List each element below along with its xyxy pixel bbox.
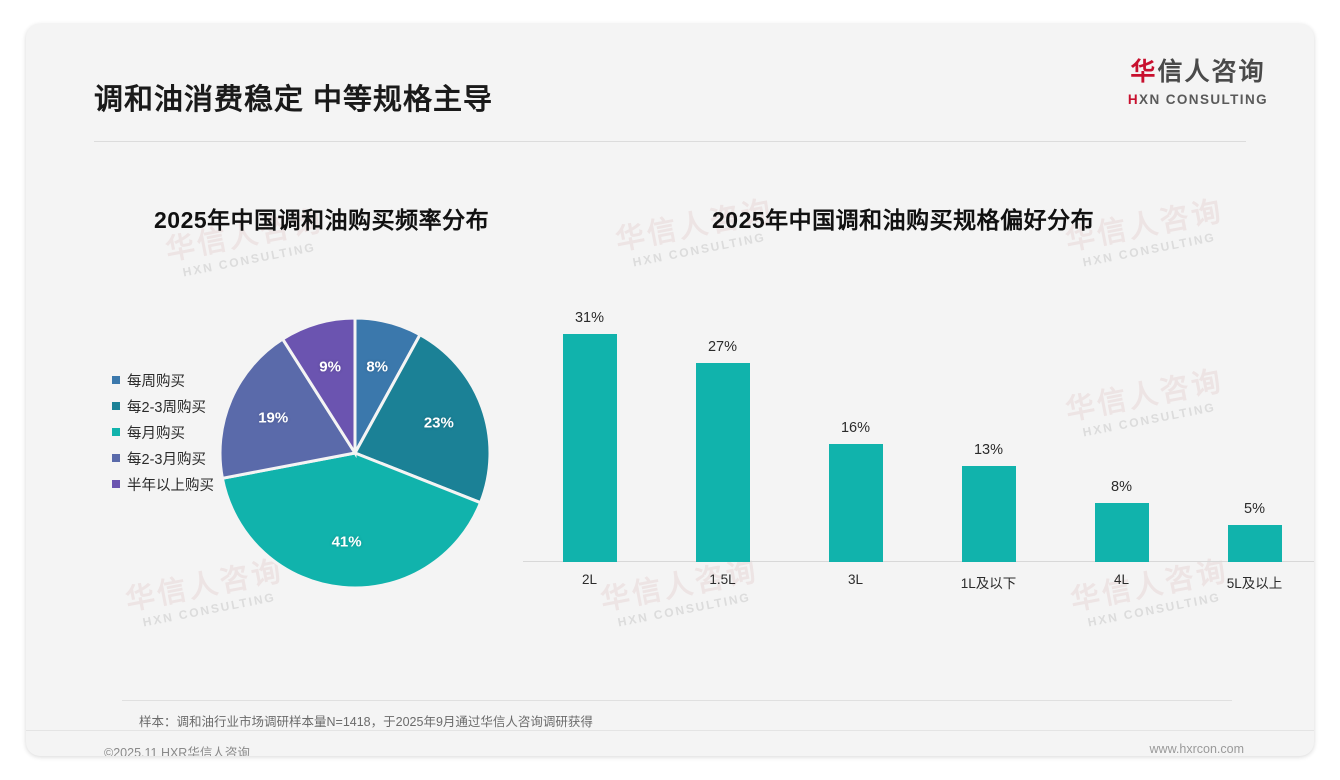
legend-color-swatch xyxy=(112,376,120,384)
bar-value-label: 8% xyxy=(1111,479,1132,495)
pie-slice-value-label: 23% xyxy=(424,414,454,431)
copyright-text: ©2025.11 HXR华信人咨询 xyxy=(104,742,250,756)
bar-category-label: 3L xyxy=(848,572,863,587)
pie-slice-value-label: 8% xyxy=(366,358,388,375)
bar-value-label: 16% xyxy=(841,420,870,436)
bar[interactable] xyxy=(563,334,617,562)
legend-item[interactable]: 每月购买 xyxy=(112,419,214,445)
bar-value-label: 31% xyxy=(575,310,604,326)
bar-chart: 31%2L27%1.5L16%3L13%1L及以下8%4L5%5L及以上 xyxy=(523,282,1314,592)
bar-column: 16%3L xyxy=(789,282,922,562)
bar-column: 13%1L及以下 xyxy=(922,282,1055,562)
watermark-en: HXN CONSULTING xyxy=(169,238,329,282)
bar-chart-title: 2025年中国调和油购买规格偏好分布 xyxy=(712,201,1094,235)
bar-category-label: 5L及以上 xyxy=(1227,572,1283,592)
legend-item[interactable]: 半年以上购买 xyxy=(112,471,214,497)
bar-column: 31%2L xyxy=(523,282,656,562)
legend-color-swatch xyxy=(112,428,120,436)
bar[interactable] xyxy=(696,363,750,562)
legend-item[interactable]: 每周购买 xyxy=(112,367,214,393)
legend-item-label: 每2-3月购买 xyxy=(127,448,206,469)
pie-slice-value-label: 9% xyxy=(319,359,341,376)
footer-divider xyxy=(26,730,1314,731)
bar-value-label: 27% xyxy=(708,339,737,355)
legend-item-label: 半年以上购买 xyxy=(127,474,214,495)
legend-item-label: 每月购买 xyxy=(127,422,185,443)
sample-divider xyxy=(122,700,1232,701)
pie-legend: 每周购买每2-3周购买每月购买每2-3月购买半年以上购买 xyxy=(112,367,214,497)
pie-chart-title: 2025年中国调和油购买频率分布 xyxy=(154,201,489,235)
page-title: 调和油消费稳定 中等规格主导 xyxy=(94,76,493,118)
sample-note: 样本：调和油行业市场调研样本量N=1418，于2025年9月通过华信人咨询调研获… xyxy=(139,711,593,730)
logo-chinese-name: 华信人咨询 xyxy=(1128,60,1268,85)
slide-card: 华信人咨询 HXN CONSULTING 华信人咨询 HXN CONSULTIN… xyxy=(26,24,1314,756)
slide-root: 华信人咨询 HXN CONSULTING 华信人咨询 HXN CONSULTIN… xyxy=(0,0,1340,780)
company-logo: 华信人咨询 HXN CONSULTING xyxy=(1128,60,1268,107)
bar-value-label: 5% xyxy=(1244,501,1265,517)
bar-column: 5%5L及以上 xyxy=(1188,282,1314,562)
logo-en-first-char: H xyxy=(1128,92,1139,107)
legend-item-label: 每周购买 xyxy=(127,370,185,391)
bar[interactable] xyxy=(1095,503,1149,562)
pie-chart: 8%23%41%19%9% xyxy=(220,318,490,588)
legend-item-label: 每2-3周购买 xyxy=(127,396,206,417)
logo-en-rest: XN CONSULTING xyxy=(1139,92,1268,107)
watermark-en: HXN CONSULTING xyxy=(1074,588,1234,632)
bar[interactable] xyxy=(829,444,883,562)
pie-slice-value-label: 19% xyxy=(258,409,288,426)
bar-category-label: 4L xyxy=(1114,572,1129,587)
bar-category-label: 2L xyxy=(582,572,597,587)
bar[interactable] xyxy=(962,466,1016,562)
bar-value-label: 13% xyxy=(974,442,1003,458)
bar[interactable] xyxy=(1228,525,1282,562)
legend-color-swatch xyxy=(112,480,120,488)
logo-english-name: HXN CONSULTING xyxy=(1128,93,1268,107)
bar-column: 27%1.5L xyxy=(656,282,789,562)
bar-column: 8%4L xyxy=(1055,282,1188,562)
legend-color-swatch xyxy=(112,454,120,462)
header-divider xyxy=(94,141,1246,142)
bar-category-label: 1.5L xyxy=(709,572,735,587)
bar-category-label: 1L及以下 xyxy=(961,572,1017,592)
legend-item[interactable]: 每2-3月购买 xyxy=(112,445,214,471)
watermark-en: HXN CONSULTING xyxy=(604,588,764,632)
watermark-en: HXN CONSULTING xyxy=(129,588,289,632)
logo-cn-first-char: 华 xyxy=(1130,58,1157,86)
website-url: www.hxrcon.com xyxy=(1150,742,1244,756)
legend-color-swatch xyxy=(112,402,120,410)
pie-slice-value-label: 41% xyxy=(332,533,362,550)
legend-item[interactable]: 每2-3周购买 xyxy=(112,393,214,419)
logo-cn-rest: 信人咨询 xyxy=(1157,58,1265,86)
